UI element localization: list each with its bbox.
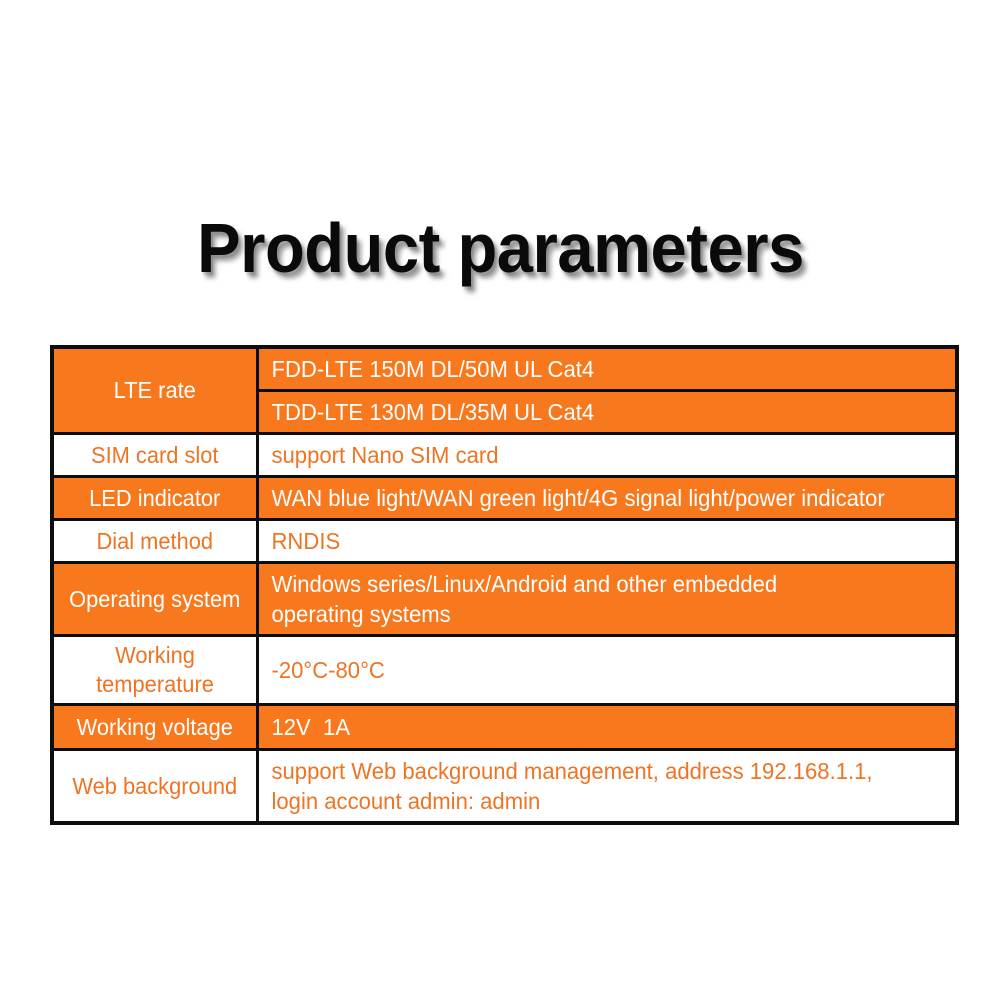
value-text: WAN blue light/WAN green light/4G signal… [259,478,928,518]
table-row: LTE rate FDD-LTE 150M DL/50M UL Cat4 [52,347,957,391]
page-title: Product parameters [35,203,966,293]
value-text: 12V 1A [259,707,928,747]
row-value-sim-card-slot: support Nano SIM card [257,434,957,477]
row-value-led-indicator: WAN blue light/WAN green light/4G signal… [257,477,957,520]
table-row: LED indicator WAN blue light/WAN green l… [52,477,957,520]
value-text: RNDIS [259,521,928,561]
label-text: Dial method [59,523,250,560]
row-label-lte-rate: LTE rate [52,347,257,434]
table-row: Working voltage 12V 1A [52,705,957,750]
value-text: FDD-LTE 150M DL/50M UL Cat4 [259,349,928,389]
label-text: Working voltage [59,709,250,746]
row-value-operating-system: Windows series/Linux/Android and other e… [257,563,957,636]
table-row: Working temperature -20°C-80°C [52,636,957,705]
label-text: LED indicator [59,480,250,517]
row-value-dial-method: RNDIS [257,520,957,563]
row-label-working-temperature: Working temperature [52,636,257,705]
row-label-working-voltage: Working voltage [52,705,257,750]
table-row: Web background support Web background ma… [52,750,957,824]
row-value-working-temperature: -20°C-80°C [257,636,957,705]
row-label-sim-card-slot: SIM card slot [52,434,257,477]
row-label-operating-system: Operating system [52,563,257,636]
value-text: -20°C-80°C [259,650,928,690]
label-text: Operating system [59,581,250,618]
label-text: Working temperature [78,637,232,703]
value-text: support Web background management, addre… [259,751,899,821]
table-body: LTE rate FDD-LTE 150M DL/50M UL Cat4 TDD… [52,347,957,823]
value-text: support Nano SIM card [259,435,928,475]
row-value-working-voltage: 12V 1A [257,705,957,750]
value-text: TDD-LTE 130M DL/35M UL Cat4 [259,392,928,432]
row-label-led-indicator: LED indicator [52,477,257,520]
row-label-web-background: Web background [52,750,257,824]
table-row: SIM card slot support Nano SIM card [52,434,957,477]
label-text: SIM card slot [59,437,250,474]
label-text: LTE rate [59,372,250,409]
row-value-lte-rate-fdd: FDD-LTE 150M DL/50M UL Cat4 [257,347,957,391]
row-value-web-background: support Web background management, addre… [257,750,957,824]
table-row: Dial method RNDIS [52,520,957,563]
value-text: Windows series/Linux/Android and other e… [259,564,813,634]
row-value-lte-rate-tdd: TDD-LTE 130M DL/35M UL Cat4 [257,391,957,434]
label-text: Web background [59,768,250,805]
product-parameters-table: LTE rate FDD-LTE 150M DL/50M UL Cat4 TDD… [50,345,959,825]
row-label-dial-method: Dial method [52,520,257,563]
table-row: Operating system Windows series/Linux/An… [52,563,957,636]
